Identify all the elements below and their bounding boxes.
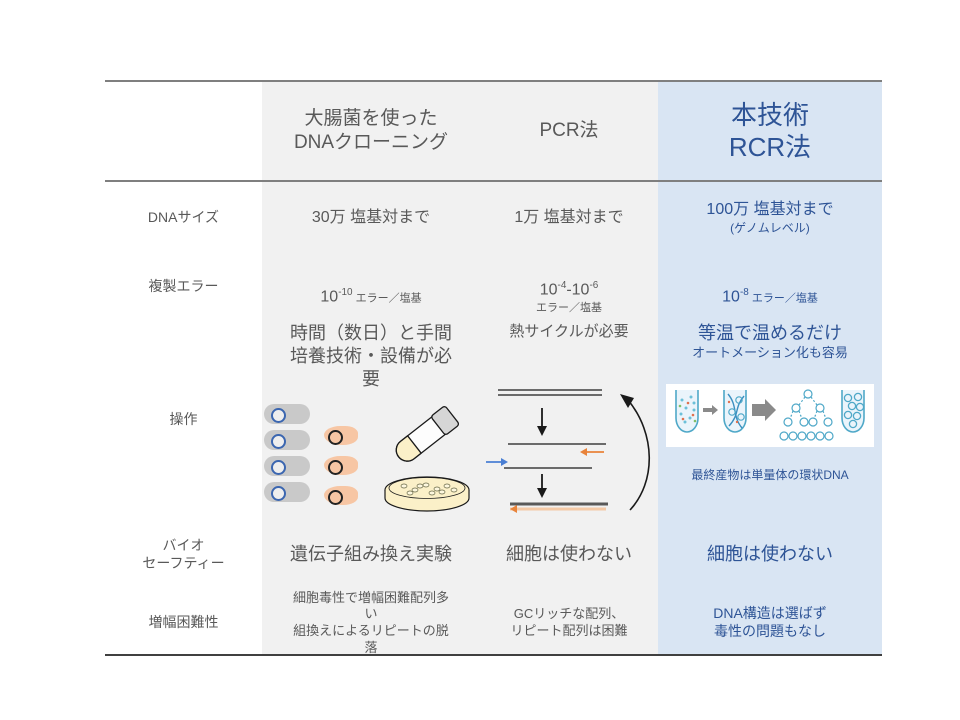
cell-replication-error-ecoli-value: 10-10 エラー／塩基 — [320, 266, 421, 307]
bacterial-cell-icon — [324, 426, 358, 445]
plasmid-icon — [264, 430, 310, 450]
cell-replication-error-ecoli: 10-10 エラー／塩基 — [262, 256, 480, 318]
cell-amplification-difficulty-pcr: GCリッチな配列、 リピート配列は困難 — [480, 588, 658, 658]
cell-biosafety-pcr: 細胞は使わない — [480, 522, 658, 588]
cell-dna-size-rcr: 100万 塩基対まで (ゲノムレベル) — [658, 180, 882, 256]
reaction-tube-icon — [724, 390, 746, 432]
cell-dna-size-ecoli: 30万 塩基対まで — [262, 180, 480, 256]
large-arrow-icon — [752, 399, 776, 421]
bacterial-cell-icon — [324, 456, 358, 475]
row-label-replication-error: 複製エラー — [105, 256, 262, 318]
cell-replication-error-pcr-line1: 10-4-10-6 — [540, 259, 599, 300]
reaction-tube-icon — [676, 390, 698, 432]
cell-biosafety-rcr: 細胞は使わない — [658, 522, 882, 588]
cell-operation-rcr-main: 等温で温めるだけ — [698, 322, 842, 345]
row-label-dna-size: DNAサイズ — [105, 180, 262, 256]
forward-primer-icon — [486, 458, 508, 466]
plasmid-icon — [264, 456, 310, 476]
row-label-amplification-difficulty: 増幅困難性 — [105, 588, 262, 658]
cell-amplification-difficulty-rcr: DNA構造は選ばず 毒性の問題もなし — [658, 588, 882, 658]
reverse-primer-icon — [580, 448, 604, 456]
cell-operation-rcr-sub: オートメーション化も容易 — [692, 345, 848, 362]
cell-replication-error-rcr-value: 10-8 エラー／塩基 — [722, 266, 818, 307]
ecoli-cloning-illustration — [262, 400, 480, 516]
cell-replication-error-rcr: 10-8 エラー／塩基 — [658, 256, 882, 318]
plasmid-icon — [264, 404, 310, 424]
reaction-tube-icon — [842, 390, 864, 432]
row-label-operation: 操作 — [105, 318, 262, 522]
pcr-amplification-diagram — [480, 382, 658, 522]
slide-canvas: 大腸菌を使った DNAクローニング PCR法 本技術 RCR法 DNAサイズ 3… — [0, 0, 960, 720]
cycle-arrow-icon — [620, 394, 649, 510]
cell-dna-size-rcr-main: 100万 塩基対まで — [706, 200, 833, 220]
rcr-amplification-illustration — [666, 384, 874, 447]
cell-dna-size-pcr: 1万 塩基対まで — [480, 180, 658, 256]
cell-amplification-difficulty-ecoli: 細胞毒性で増幅困難配列多 い 組換えによるリピートの脱 落 — [262, 588, 480, 658]
cell-replication-error-pcr-line2: エラー／塩基 — [536, 301, 602, 315]
testtube-and-petridish-icon — [370, 400, 480, 516]
cell-replication-error-pcr: 10-4-10-6 エラー／塩基 — [480, 256, 658, 318]
down-arrow-icon — [537, 408, 547, 436]
bacterial-cell-icon — [324, 486, 358, 505]
comparison-table: 大腸菌を使った DNAクローニング PCR法 本技術 RCR法 DNAサイズ 3… — [105, 80, 882, 656]
plasmid-icon — [264, 482, 310, 502]
header-pcr: PCR法 — [480, 82, 658, 180]
cell-biosafety-ecoli: 遺伝子組み換え実験 — [262, 522, 480, 588]
amplification-tree — [780, 390, 833, 440]
header-ecoli-cloning: 大腸菌を使った DNAクローニング — [262, 82, 480, 180]
row-label-biosafety: バイオ セーフティー — [105, 522, 262, 588]
header-rcr: 本技術 RCR法 — [658, 82, 882, 180]
cell-dna-size-rcr-sub: (ゲノムレベル) — [730, 221, 810, 236]
down-arrow-icon — [537, 474, 547, 498]
small-arrow-icon — [703, 405, 718, 415]
cell-operation-rcr-note: 最終産物は単量体の環状DNA — [658, 466, 882, 483]
